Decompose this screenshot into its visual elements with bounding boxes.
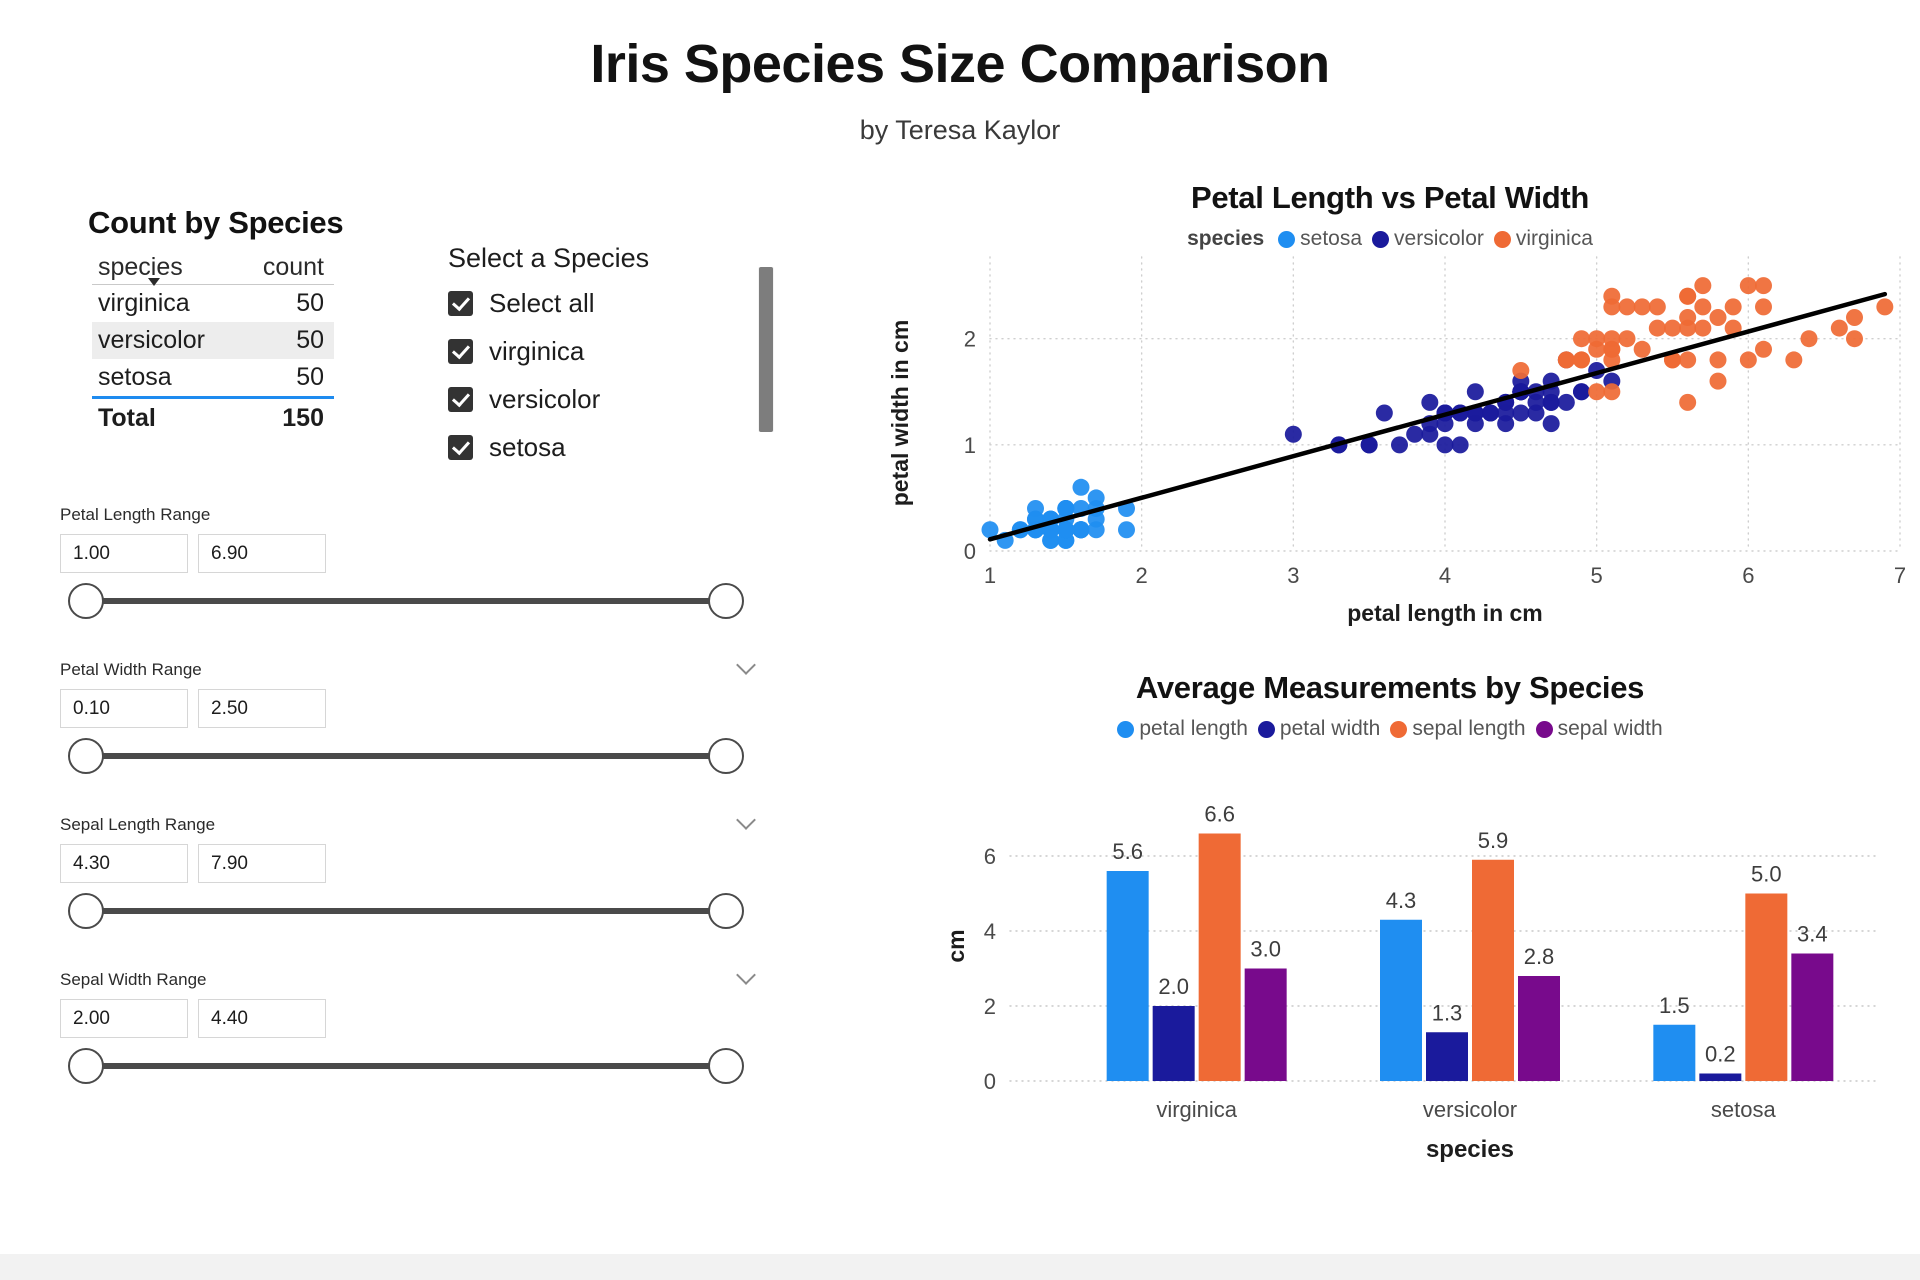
bottom-strip	[0, 1254, 1920, 1280]
checkbox-label: versicolor	[489, 384, 600, 415]
legend-item-setosa[interactable]: setosa	[1278, 227, 1362, 251]
cell-species: setosa	[92, 359, 238, 398]
filter-petal-length-range: Petal Length Range 1.00 6.90	[60, 505, 780, 623]
legend-label: sepal width	[1558, 717, 1663, 741]
checkbox-row-setosa[interactable]: setosa	[448, 432, 778, 463]
filter-sepal-length-range: Sepal Length Range 4.30 7.90	[60, 815, 780, 933]
svg-text:1.5: 1.5	[1659, 993, 1690, 1018]
range-slider[interactable]	[60, 734, 750, 778]
filter-label: Petal Length Range	[60, 505, 780, 525]
cell-count: 50	[238, 359, 334, 398]
bar-chart-legend: petal length petal width sepal length se…	[860, 717, 1920, 741]
checkbox-label: setosa	[489, 432, 566, 463]
legend-item-virginica[interactable]: virginica	[1494, 227, 1593, 251]
legend-item-petal-width[interactable]: petal width	[1258, 717, 1380, 741]
scatter-chart-title: Petal Length vs Petal Width	[860, 180, 1920, 216]
legend-label: setosa	[1300, 227, 1362, 251]
bar-chart-block: Average Measurements by Species petal le…	[860, 670, 1920, 1186]
checkbox-checked-icon[interactable]	[448, 387, 473, 412]
svg-text:3.0: 3.0	[1250, 937, 1281, 962]
legend-label: sepal length	[1412, 717, 1525, 741]
total-value: 150	[238, 398, 334, 438]
slider-handle-min[interactable]	[68, 893, 104, 929]
svg-text:1: 1	[964, 433, 976, 458]
svg-text:3: 3	[1287, 563, 1299, 588]
checkbox-row-versicolor[interactable]: versicolor	[448, 384, 778, 415]
svg-text:2.8: 2.8	[1524, 944, 1555, 969]
table-row[interactable]: virginica 50	[92, 285, 334, 323]
svg-text:1.3: 1.3	[1432, 1000, 1463, 1025]
table-total-row: Total 150	[92, 398, 334, 438]
bar-category-label: versicolor	[1423, 1097, 1517, 1122]
filter-label: Sepal Width Range	[60, 970, 780, 990]
slider-track[interactable]	[86, 908, 726, 914]
svg-text:7: 7	[1894, 563, 1906, 588]
table-row[interactable]: setosa 50	[92, 359, 334, 398]
filter-petal-width-range: Petal Width Range 0.10 2.50	[60, 660, 780, 778]
dashboard-body: Count by Species species count virginica…	[0, 205, 1920, 1260]
legend-dot-icon	[1390, 721, 1407, 738]
legend-label: versicolor	[1394, 227, 1484, 251]
cell-species: virginica	[92, 285, 238, 323]
filter-sepal-width-range: Sepal Width Range 2.00 4.40	[60, 970, 780, 1088]
scrollbar-thumb[interactable]	[759, 267, 773, 432]
svg-text:0: 0	[964, 539, 976, 564]
checkbox-checked-icon[interactable]	[448, 291, 473, 316]
filter-min-input[interactable]: 1.00	[60, 534, 188, 573]
svg-text:6: 6	[984, 844, 996, 869]
legend-label: petal length	[1139, 717, 1248, 741]
svg-text:3.4: 3.4	[1797, 922, 1828, 947]
svg-text:2: 2	[964, 327, 976, 352]
scatter-chart-legend: species setosa versicolor virginica	[860, 227, 1920, 251]
range-slider[interactable]	[60, 889, 750, 933]
slider-handle-max[interactable]	[708, 1048, 744, 1084]
svg-text:1: 1	[984, 563, 996, 588]
svg-text:6.6: 6.6	[1204, 802, 1235, 827]
dashboard-header: Iris Species Size Comparison by Teresa K…	[0, 0, 1920, 146]
filter-min-input[interactable]: 0.10	[60, 689, 188, 728]
count-by-species-title: Count by Species	[88, 205, 800, 241]
legend-dot-icon	[1372, 231, 1389, 248]
filter-max-input[interactable]: 7.90	[198, 844, 326, 883]
legend-dot-icon	[1117, 721, 1134, 738]
checkbox-row-select-all[interactable]: Select all	[448, 288, 778, 319]
slider-track[interactable]	[86, 753, 726, 759]
bar-category-label: setosa	[1711, 1097, 1777, 1122]
legend-item-sepal-length[interactable]: sepal length	[1390, 717, 1525, 741]
bar-category-label: virginica	[1156, 1097, 1237, 1122]
bar-chart-canvas: 02465.62.06.63.0virginica4.31.35.92.8ver…	[860, 741, 1920, 1181]
svg-text:4: 4	[984, 919, 996, 944]
svg-text:4: 4	[1439, 563, 1451, 588]
checkbox-row-virginica[interactable]: virginica	[448, 336, 778, 367]
bar-x-axis-label: species	[1426, 1136, 1514, 1163]
filter-max-input[interactable]: 4.40	[198, 999, 326, 1038]
legend-label: virginica	[1516, 227, 1593, 251]
checkbox-label: virginica	[489, 336, 584, 367]
table-header-row: species count	[92, 251, 334, 285]
svg-text:2.0: 2.0	[1158, 974, 1189, 999]
charts-panel: Petal Length vs Petal Width species seto…	[860, 180, 1920, 1240]
count-by-species-table: species count virginica 50 versicolor 50…	[92, 251, 334, 437]
range-filters: Petal Length Range 1.00 6.90 Petal Width…	[60, 505, 780, 1125]
filter-inputs: 2.00 4.40	[60, 999, 780, 1038]
slider-handle-max[interactable]	[708, 583, 744, 619]
page-subtitle: by Teresa Kaylor	[0, 115, 1920, 146]
filter-inputs: 4.30 7.90	[60, 844, 780, 883]
filter-max-input[interactable]: 6.90	[198, 534, 326, 573]
column-header-species-label: species	[98, 253, 183, 281]
column-header-species[interactable]: species	[92, 251, 238, 285]
filter-label: Petal Width Range	[60, 660, 780, 680]
total-label: Total	[92, 398, 238, 438]
cell-count: 50	[238, 322, 334, 359]
slider-handle-max[interactable]	[708, 893, 744, 929]
svg-text:6: 6	[1742, 563, 1754, 588]
range-slider[interactable]	[60, 579, 750, 623]
svg-text:5: 5	[1591, 563, 1603, 588]
svg-text:2: 2	[984, 994, 996, 1019]
species-selector-scrollbar[interactable]	[758, 267, 774, 432]
page-title: Iris Species Size Comparison	[0, 36, 1920, 93]
legend-item-versicolor[interactable]: versicolor	[1372, 227, 1484, 251]
legend-dot-icon	[1494, 231, 1511, 248]
sort-descending-caret-icon[interactable]	[148, 278, 160, 286]
svg-text:4.3: 4.3	[1386, 888, 1417, 913]
legend-dot-icon	[1536, 721, 1553, 738]
controls-panel: Count by Species species count virginica…	[0, 205, 800, 1240]
filter-inputs: 0.10 2.50	[60, 689, 780, 728]
filter-min-input[interactable]: 2.00	[60, 999, 188, 1038]
scatter-x-axis-label: petal length in cm	[1347, 600, 1543, 626]
checkbox-checked-icon[interactable]	[448, 435, 473, 460]
column-header-count[interactable]: count	[238, 251, 334, 285]
chevron-down-icon[interactable]	[736, 658, 758, 670]
checkbox-checked-icon[interactable]	[448, 339, 473, 364]
species-selector-title: Select a Species	[448, 243, 778, 274]
svg-text:5.6: 5.6	[1112, 839, 1143, 864]
svg-text:2: 2	[1136, 563, 1148, 588]
legend-label: petal width	[1280, 717, 1380, 741]
bar-y-axis-label: cm	[943, 929, 969, 962]
legend-title: species	[1187, 227, 1264, 251]
chevron-down-icon[interactable]	[736, 968, 758, 980]
slider-track[interactable]	[86, 1063, 726, 1069]
scatter-y-axis-label: petal width in cm	[887, 320, 913, 507]
slider-handle-max[interactable]	[708, 738, 744, 774]
scatter-plot-canvas: 0121234567petal width in cmpetal length …	[860, 251, 1920, 651]
checkbox-label: Select all	[489, 288, 595, 319]
table-row[interactable]: versicolor 50	[92, 322, 334, 359]
legend-item-petal-length[interactable]: petal length	[1117, 717, 1248, 741]
filter-min-input[interactable]: 4.30	[60, 844, 188, 883]
svg-text:0.2: 0.2	[1705, 1042, 1736, 1067]
legend-dot-icon	[1278, 231, 1295, 248]
legend-item-sepal-width[interactable]: sepal width	[1536, 717, 1663, 741]
svg-text:0: 0	[984, 1069, 996, 1094]
filter-label: Sepal Length Range	[60, 815, 780, 835]
cell-species: versicolor	[92, 322, 238, 359]
bar-chart-title: Average Measurements by Species	[860, 670, 1920, 706]
slider-track[interactable]	[86, 598, 726, 604]
scatter-chart-block: Petal Length vs Petal Width species seto…	[860, 180, 1920, 656]
chevron-down-icon[interactable]	[736, 813, 758, 825]
slider-handle-min[interactable]	[68, 583, 104, 619]
cell-count: 50	[238, 285, 334, 323]
svg-text:5.0: 5.0	[1751, 862, 1782, 887]
svg-text:5.9: 5.9	[1478, 828, 1509, 853]
species-selector: Select a Species Select all virginica ve…	[448, 243, 778, 480]
range-slider[interactable]	[60, 1044, 750, 1088]
slider-handle-min[interactable]	[68, 1048, 104, 1084]
slider-handle-min[interactable]	[68, 738, 104, 774]
filter-max-input[interactable]: 2.50	[198, 689, 326, 728]
legend-dot-icon	[1258, 721, 1275, 738]
filter-inputs: 1.00 6.90	[60, 534, 780, 573]
